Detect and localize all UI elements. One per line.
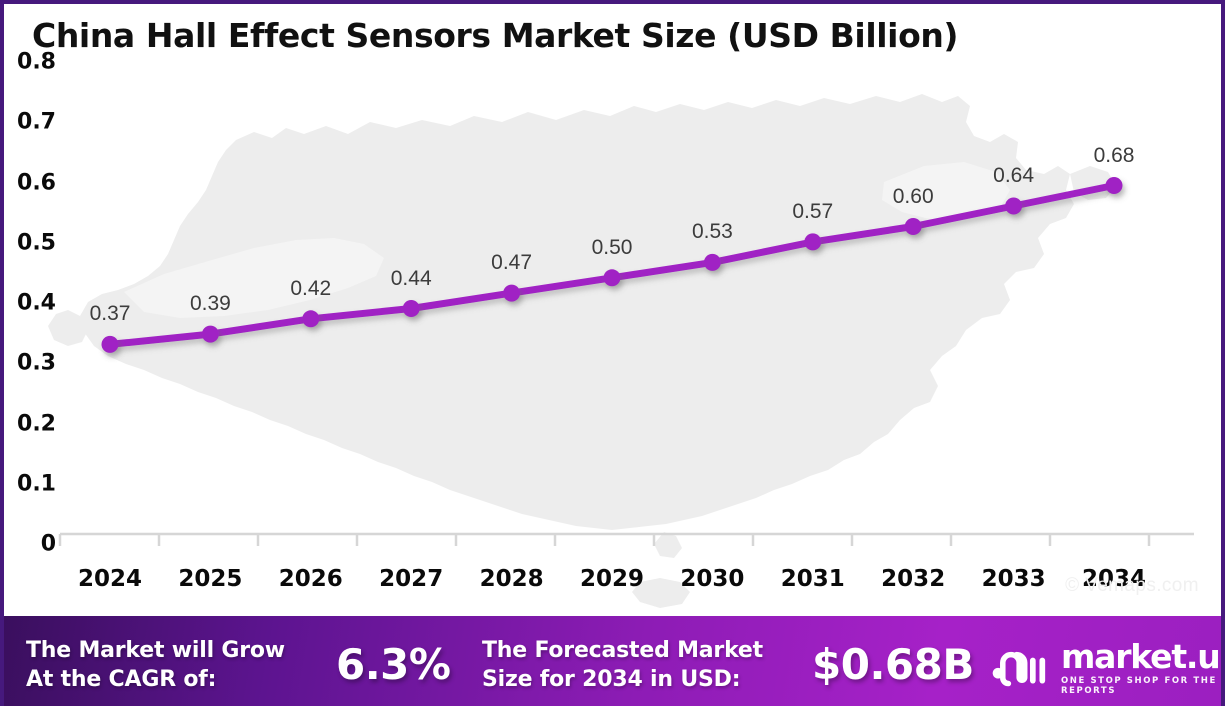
cagr-caption-line1: The Market will Grow — [26, 637, 285, 666]
forecast-size-value: $0.68B — [812, 640, 974, 689]
y-tick-label: 0.6 — [17, 170, 56, 195]
y-tick-label: 0.7 — [17, 110, 56, 135]
forecast-caption-line1: The Forecasted Market — [482, 637, 763, 666]
x-tick-label: 2027 — [379, 566, 443, 592]
data-point — [804, 233, 821, 250]
data-point — [403, 300, 420, 317]
footer-banner: The Market will Grow At the CAGR of: 6.3… — [4, 616, 1225, 706]
forecast-size-caption: The Forecasted Market Size for 2034 in U… — [482, 637, 763, 694]
data-point — [604, 269, 621, 286]
cagr-caption: The Market will Grow At the CAGR of: — [26, 637, 285, 694]
line-series-layer — [4, 62, 1221, 614]
point-value-label: 0.50 — [592, 236, 633, 260]
series-polyline — [110, 186, 1114, 345]
y-tick-label: 0.2 — [17, 411, 56, 436]
market-us-logo[interactable]: market.us ONE STOP SHOP FOR THE REPORTS — [992, 640, 1225, 696]
x-tick-label: 2033 — [982, 566, 1046, 592]
data-point — [102, 336, 119, 353]
x-tick-label: 2030 — [680, 566, 744, 592]
data-point — [1106, 177, 1123, 194]
vemaps-watermark: © Vemaps.com — [1065, 575, 1199, 597]
chart-page: China Hall Effect Sensors Market Size (U… — [0, 0, 1225, 706]
x-axis-labels: 2024202520262027202820292030203120322033… — [4, 556, 1221, 606]
point-value-label: 0.57 — [792, 200, 833, 224]
point-value-label: 0.60 — [893, 185, 934, 209]
point-value-label: 0.42 — [290, 277, 331, 301]
data-point — [202, 326, 219, 343]
data-point — [1005, 198, 1022, 215]
y-axis-labels: 0.8 0.7 0.6 0.5 0.4 0.3 0.2 0.1 0 — [8, 62, 60, 544]
data-point — [905, 218, 922, 235]
y-tick-label: 0.1 — [17, 471, 56, 496]
point-value-label: 0.39 — [190, 292, 231, 316]
point-value-label: 0.53 — [692, 220, 733, 244]
point-value-label: 0.44 — [391, 267, 432, 291]
point-value-label: 0.68 — [1094, 144, 1135, 168]
page-title: China Hall Effect Sensors Market Size (U… — [32, 16, 958, 55]
data-point — [503, 285, 520, 302]
plot-area: 0.370.390.420.440.470.500.530.570.600.64… — [4, 62, 1221, 614]
market-us-logo-mark — [992, 648, 1049, 688]
y-tick-label: 0.4 — [17, 291, 56, 316]
x-tick-label: 2026 — [279, 566, 343, 592]
market-us-wordmark: market.us — [1061, 640, 1225, 673]
x-tick-label: 2024 — [78, 566, 142, 592]
y-tick-label: 0.5 — [17, 230, 56, 255]
y-tick-label: 0 — [41, 532, 56, 557]
y-tick-label: 0.8 — [17, 50, 56, 75]
x-tick-label: 2028 — [480, 566, 544, 592]
market-us-tagline: ONE STOP SHOP FOR THE REPORTS — [1061, 676, 1225, 696]
point-value-label: 0.47 — [491, 251, 532, 275]
x-tick-label: 2031 — [781, 566, 845, 592]
point-value-label: 0.37 — [90, 302, 131, 326]
cagr-value: 6.3% — [336, 640, 450, 689]
y-tick-label: 0.3 — [17, 351, 56, 376]
data-point — [704, 254, 721, 271]
forecast-caption-line2: Size for 2034 in USD: — [482, 666, 763, 695]
x-tick-label: 2029 — [580, 566, 644, 592]
x-tick-label: 2032 — [881, 566, 945, 592]
x-tick-label: 2025 — [178, 566, 242, 592]
point-value-label: 0.64 — [993, 164, 1034, 188]
cagr-caption-line2: At the CAGR of: — [26, 666, 285, 695]
data-point — [302, 310, 319, 327]
